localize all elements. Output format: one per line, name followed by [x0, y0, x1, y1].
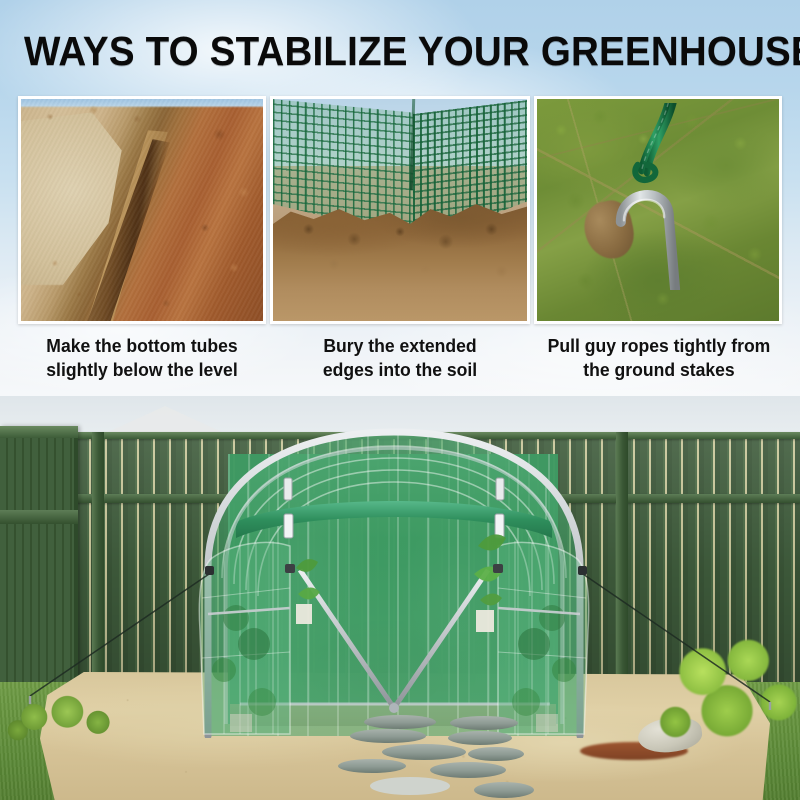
step-3-caption-line-2: the ground stakes [535, 358, 784, 382]
door-tensioner-right [493, 564, 503, 573]
greenhouse-hero-photo [0, 396, 800, 800]
stepping-stones [328, 714, 568, 800]
moss-ground-background [537, 99, 779, 321]
guy-rope-icon [627, 103, 680, 187]
step-2-photo-frame [270, 96, 530, 324]
page-title: WAYS TO STABILIZE YOUR GREENHOUSE [24, 28, 776, 74]
fence-post [92, 432, 104, 682]
trench-in-soil-photo [21, 99, 263, 321]
step-2-caption-line-2: edges into the soil [280, 358, 519, 382]
left-shrub [6, 688, 124, 754]
step-2-caption: Bury the extended edges into the soil [280, 334, 519, 382]
buried-mesh-edge-photo [273, 99, 527, 321]
soil-clumps [273, 197, 527, 321]
mesh-soil-background [273, 99, 527, 321]
step-3-caption-line-1: Pull guy ropes tightly from [535, 334, 784, 358]
greenhouse-frame-and-cover [178, 418, 610, 738]
step-photo-strip [0, 96, 800, 326]
fence-post [616, 432, 628, 682]
door-left [199, 541, 290, 734]
door-right [498, 541, 589, 734]
step-1-caption-line-1: Make the bottom tubes [20, 334, 263, 358]
infographic-page: WAYS TO STABILIZE YOUR GREENHOUSE [0, 0, 800, 800]
ground-stake-guy-rope-photo [537, 99, 779, 321]
soil-grain-texture [21, 99, 263, 321]
step-captions: Make the bottom tubes slightly below the… [0, 334, 800, 392]
right-shrub [648, 624, 800, 764]
step-2-caption-line-1: Bury the extended [280, 334, 519, 358]
door-tensioner-left [285, 564, 295, 573]
step-3-photo-frame [534, 96, 782, 324]
step-1-caption-line-2: slightly below the level [20, 358, 263, 382]
fence-side-panel [0, 426, 78, 682]
brace-joint [389, 703, 399, 713]
tunnel-greenhouse [178, 418, 610, 776]
fence-side-panel-rail [0, 510, 78, 524]
fence-side-panel-cap [0, 426, 78, 438]
step-1-caption: Make the bottom tubes slightly below the… [20, 334, 263, 382]
step-3-caption: Pull guy ropes tightly from the ground s… [535, 334, 784, 382]
step-1-photo-frame [18, 96, 266, 324]
soil-background [21, 99, 263, 321]
